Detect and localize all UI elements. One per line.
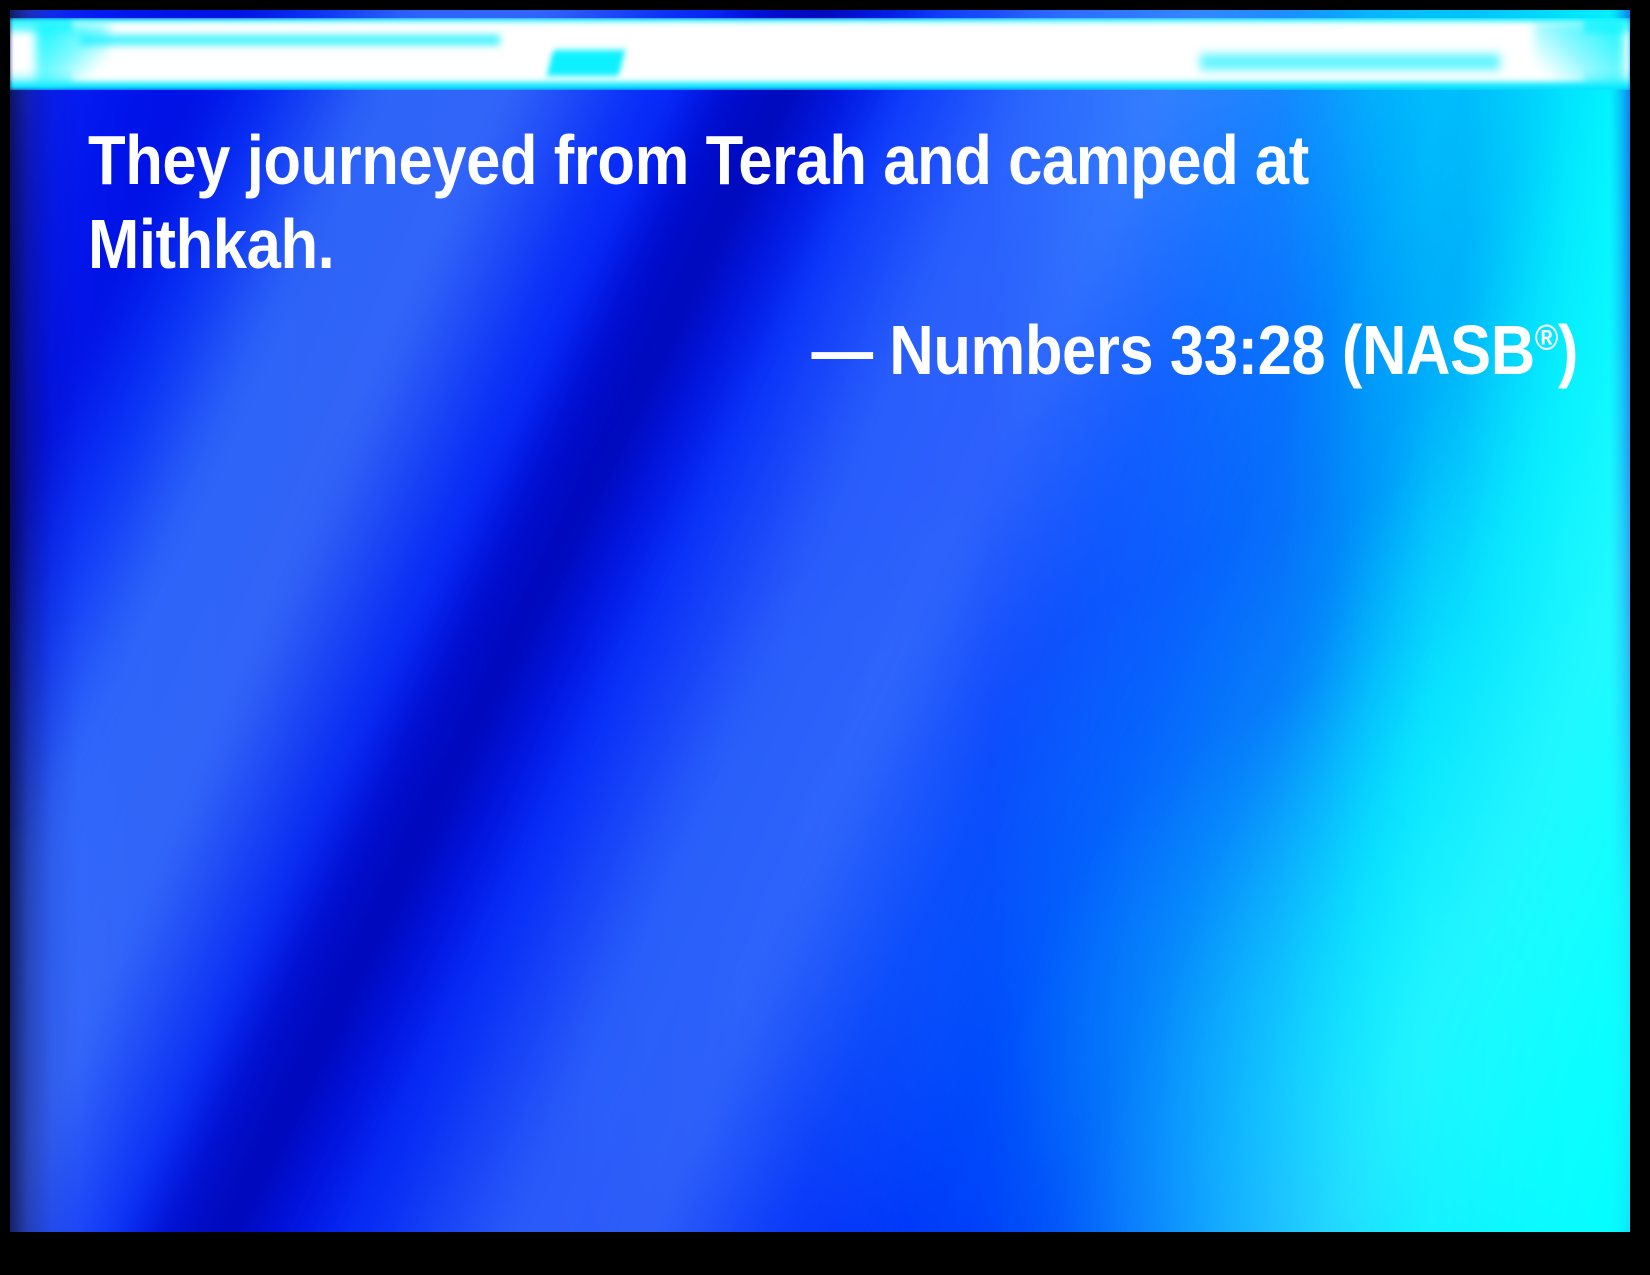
slide-canvas: They journeyed from Terah and camped at … [10, 10, 1630, 1232]
background-left-shadow [10, 10, 80, 1232]
header-bar [10, 18, 1630, 90]
verse-citation: — Numbers 33:28 (NASB®) [267, 308, 1578, 392]
citation-closing-paren: ) [1558, 311, 1578, 389]
slide-frame: They journeyed from Terah and camped at … [0, 0, 1650, 1275]
registered-trademark-icon: ® [1535, 317, 1558, 358]
header-bar-right-corner-glow [1534, 22, 1624, 88]
header-bar-right-cyan-wisp [1200, 54, 1500, 70]
verse-text: They journeyed from Terah and camped at … [88, 118, 1399, 286]
citation-reference: — Numbers 33:28 (NASB [811, 311, 1534, 389]
header-bar-cyan-notch [547, 50, 625, 76]
header-bar-left-corner-glow [36, 24, 110, 86]
header-bar-white-fill [72, 22, 1584, 80]
header-bar-left-cyan-wisp [80, 35, 500, 45]
verse-block: They journeyed from Terah and camped at … [88, 118, 1578, 392]
